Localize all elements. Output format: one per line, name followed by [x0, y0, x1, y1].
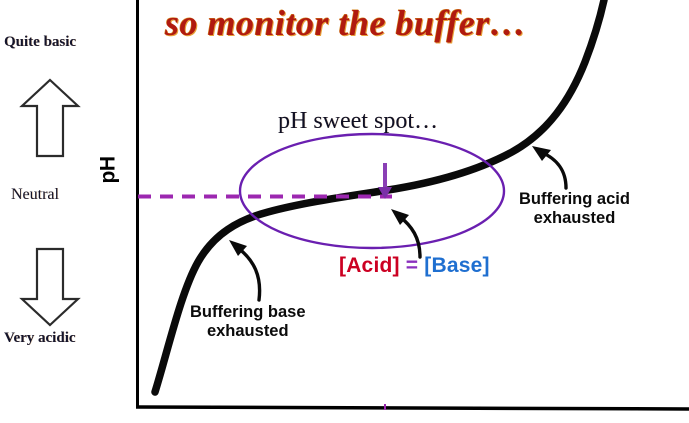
buffering-acid-exhausted-label: Buffering acid exhausted — [519, 190, 630, 228]
ph-titration-curve-figure: so monitor the buffer… Quite basic Neutr… — [0, 0, 689, 423]
buffering-base-exhausted-label: Buffering base exhausted — [190, 303, 306, 341]
buffering-base-line-2: exhausted — [190, 322, 306, 341]
buffering-base-line-1: Buffering base — [190, 303, 306, 322]
buffering-base-callout-arrow-icon — [229, 240, 260, 300]
acid-equals-base-label: [Acid] = [Base] — [339, 254, 490, 278]
acid-token: [Acid] — [339, 254, 400, 277]
equals-token: = — [406, 254, 418, 277]
buffering-acid-line-1: Buffering acid — [519, 190, 630, 209]
buffering-acid-line-2: exhausted — [519, 209, 630, 228]
acid-base-callout-arrow-icon — [391, 209, 420, 257]
buffering-acid-callout-arrow-icon — [532, 146, 566, 188]
sweet-spot-label: pH sweet spot… — [278, 108, 438, 135]
base-token: [Base] — [424, 254, 489, 277]
x-axis-line — [136, 407, 689, 409]
